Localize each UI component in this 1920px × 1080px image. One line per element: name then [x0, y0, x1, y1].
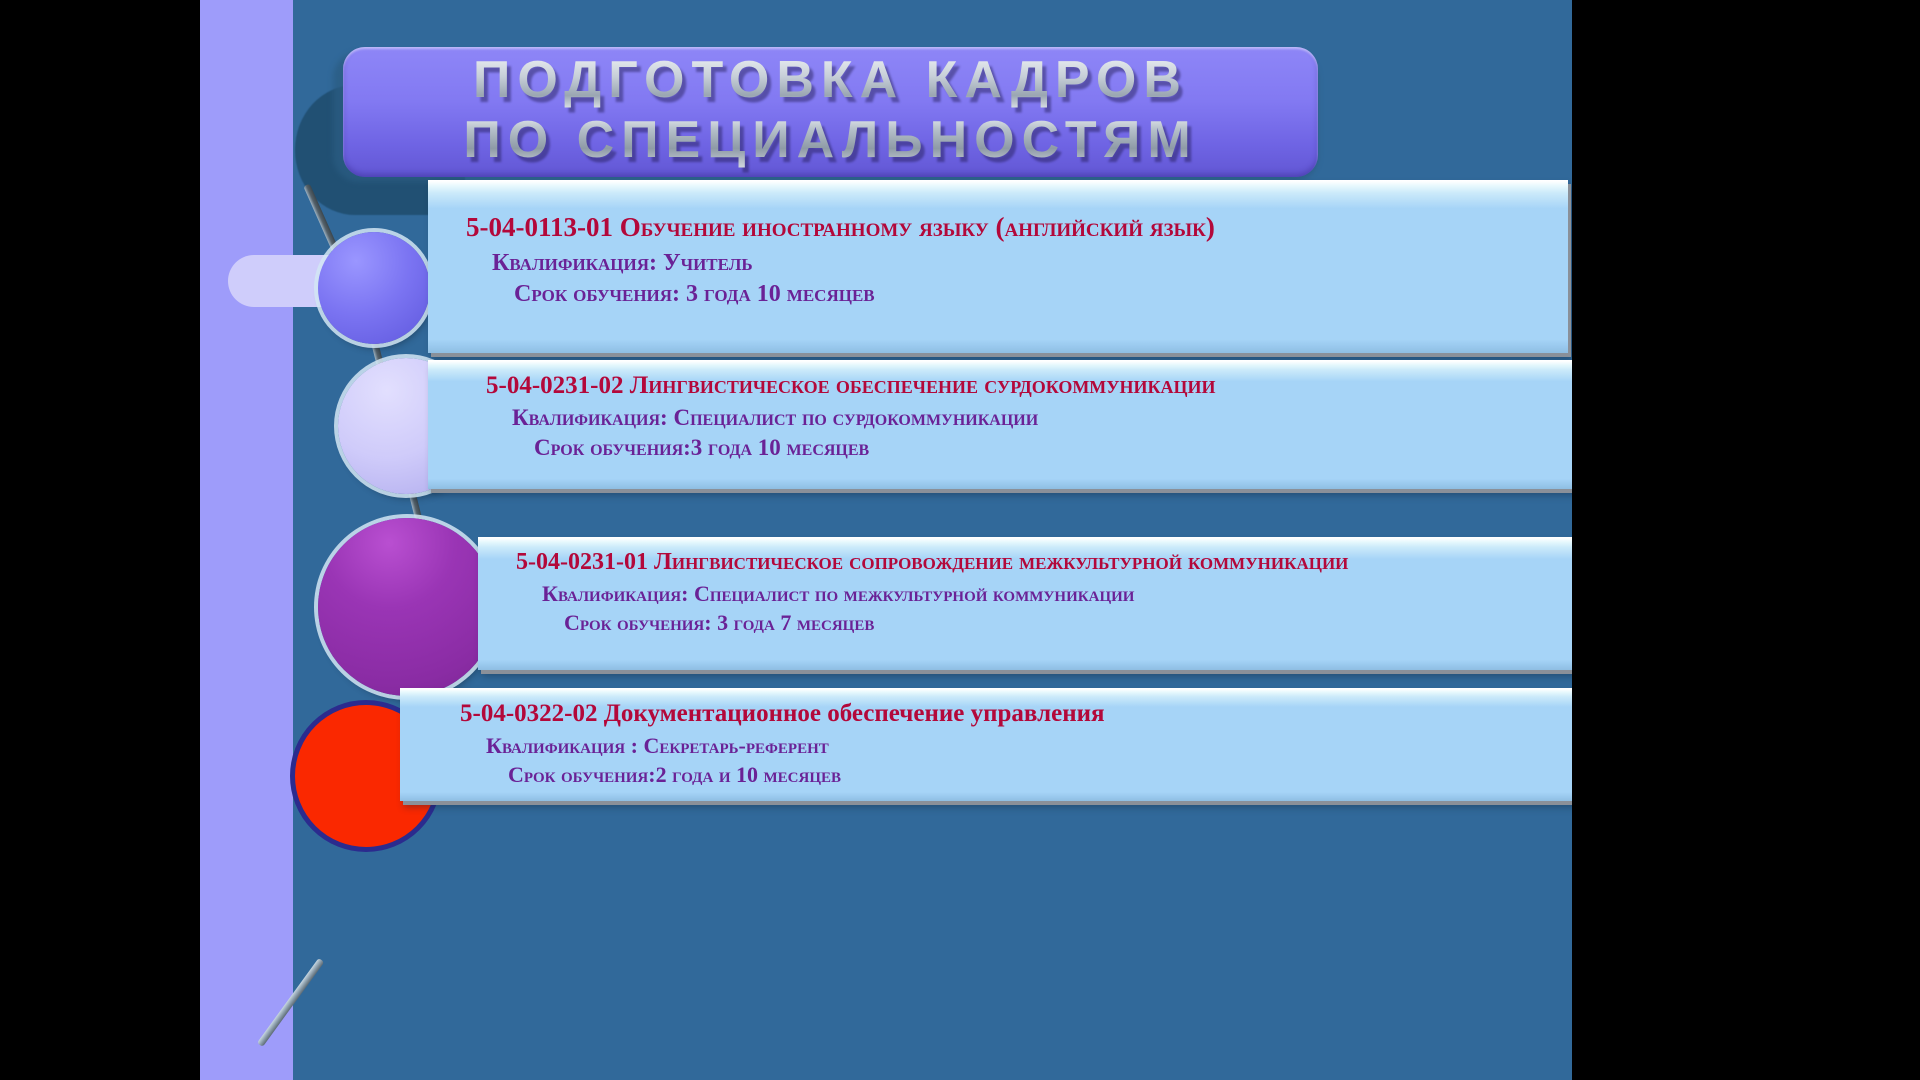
specialty-4-title: 5-04-0322-02 Документационное обеспечени…: [460, 699, 1564, 729]
marker-circle-specialty-1: [318, 232, 430, 344]
specialty-3-duration: Срок обучения: 3 года 7 месяцев: [516, 608, 1554, 637]
presentation-slide: ПОДГОТОВКА КАДРОВ ПО СПЕЦИАЛЬНОСТЯМ 5-04…: [200, 0, 1572, 1080]
specialty-card-2-content: 5-04-0231-02 Лингвистическое обеспечение…: [428, 361, 1572, 463]
specialty-4-duration: Срок обучения:2 года и 10 месяцев: [460, 760, 1564, 789]
specialty-2-qualification: Квалификация: Специалист по сурдокоммуни…: [486, 403, 1554, 433]
specialty-3-title: 5-04-0231-01 Лингвистическое сопровожден…: [516, 548, 1554, 577]
specialty-1-title: 5-04-0113-01 Обучение иностранному языку…: [466, 209, 1542, 246]
specialty-2-title: 5-04-0231-02 Лингвистическое обеспечение…: [486, 371, 1554, 401]
left-decorative-band: [200, 0, 293, 1080]
specialty-1-qualification: Квалификация: Учитель: [466, 248, 1542, 279]
specialty-card-4-content: 5-04-0322-02 Документационное обеспечени…: [400, 689, 1572, 789]
specialty-card-1: 5-04-0113-01 Обучение иностранному языку…: [428, 180, 1568, 353]
specialty-3-qualification: Квалификация: Специалист по межкультурно…: [516, 579, 1554, 608]
specialty-card-3: 5-04-0231-01 Лингвистическое сопровожден…: [478, 537, 1572, 670]
specialty-card-2: 5-04-0231-02 Лингвистическое обеспечение…: [428, 360, 1572, 489]
title-plaque: ПОДГОТОВКА КАДРОВ ПО СПЕЦИАЛЬНОСТЯМ: [343, 47, 1318, 177]
slide-stage: ПОДГОТОВКА КАДРОВ ПО СПЕЦИАЛЬНОСТЯМ 5-04…: [0, 0, 1920, 1080]
specialty-4-qualification: Квалификация : Секретарь-референт: [460, 731, 1564, 760]
specialty-card-3-content: 5-04-0231-01 Лингвистическое сопровожден…: [478, 538, 1572, 637]
slide-title: ПОДГОТОВКА КАДРОВ ПО СПЕЦИАЛЬНОСТЯМ: [463, 50, 1197, 170]
specialty-2-duration: Срок обучения:3 года 10 месяцев: [486, 433, 1554, 463]
marker-circle-specialty-3: [318, 518, 496, 696]
specialty-1-duration: Срок обучения: 3 года 10 месяцев: [466, 279, 1542, 310]
specialty-card-4: 5-04-0322-02 Документационное обеспечени…: [400, 688, 1572, 801]
specialty-card-1-content: 5-04-0113-01 Обучение иностранному языку…: [428, 181, 1568, 310]
